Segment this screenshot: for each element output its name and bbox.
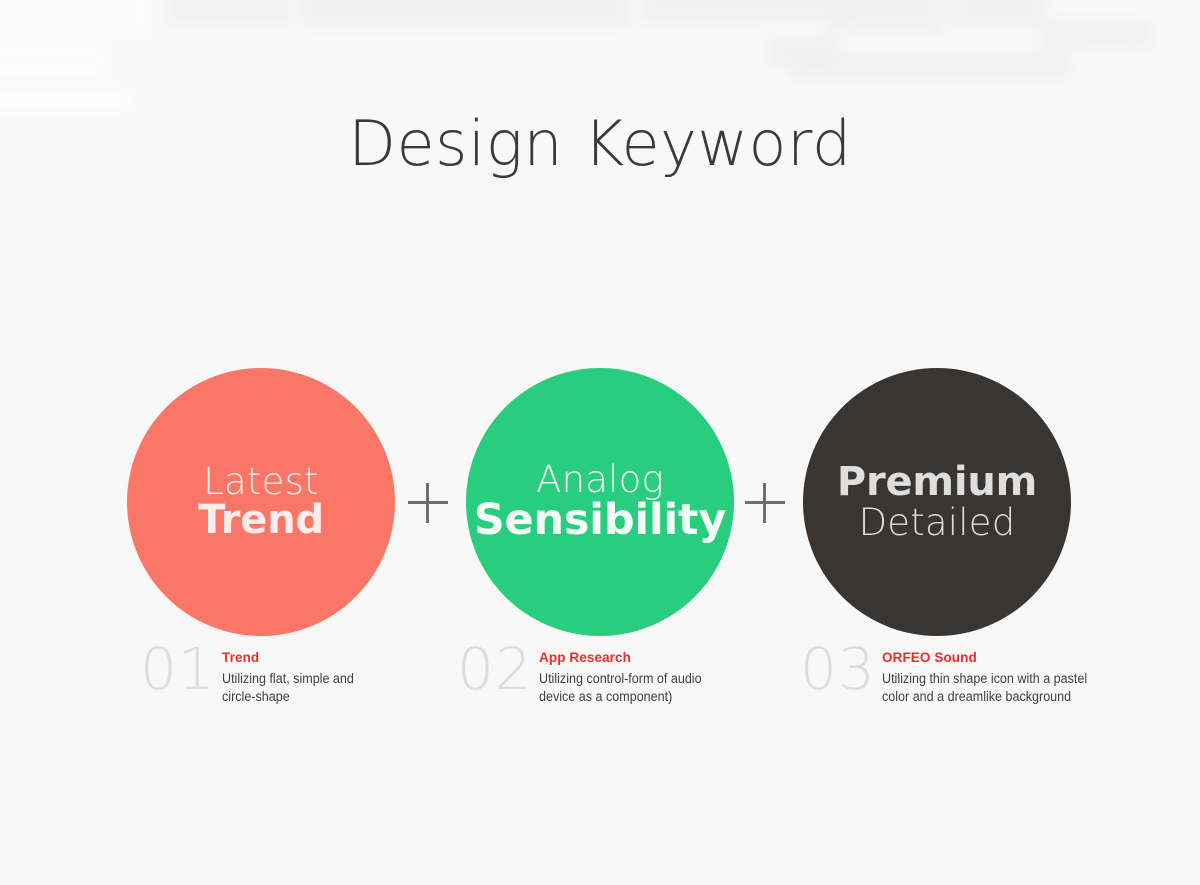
caption-number: 02 bbox=[457, 643, 539, 696]
caption-text-block: App Research Utilizing control-form of a… bbox=[539, 645, 754, 705]
plus-icon bbox=[745, 483, 785, 523]
keyword-line-top: Latest bbox=[203, 463, 319, 501]
keyword-line-bottom: Sensibility bbox=[474, 499, 726, 543]
caption-item-trend: 01 Trend Utilizing flat, simple and circ… bbox=[140, 645, 422, 705]
keyword-circle-sensibility[interactable]: Analog Sensibility bbox=[466, 368, 734, 636]
watermark-block bbox=[770, 36, 840, 68]
keyword-circle-trend[interactable]: Latest Trend bbox=[127, 368, 395, 636]
plus-icon bbox=[408, 483, 448, 523]
watermark-block bbox=[0, 0, 150, 36]
caption-title: App Research bbox=[539, 651, 754, 666]
keyword-line-top: Premium bbox=[837, 462, 1037, 503]
caption-item-orfeo-sound: 03 ORFEO Sound Utilizing thin shape icon… bbox=[800, 645, 1112, 705]
keyword-circle-row: Latest Trend Analog Sensibility Premium … bbox=[0, 368, 1200, 638]
keyword-circle-premium[interactable]: Premium Detailed bbox=[803, 368, 1071, 636]
caption-number: 03 bbox=[800, 643, 882, 696]
caption-number: 01 bbox=[140, 643, 222, 696]
watermark-block bbox=[0, 40, 110, 80]
caption-description: Utilizing thin shape icon with a pastel … bbox=[882, 670, 1096, 706]
watermark-block bbox=[830, 0, 945, 34]
caption-description: Utilizing control-form of audio device a… bbox=[539, 670, 739, 706]
keyword-line-top: Analog bbox=[536, 461, 664, 499]
watermark-block bbox=[170, 0, 290, 24]
watermark-block bbox=[950, 0, 1045, 28]
caption-description: Utilizing flat, simple and circle-shape bbox=[222, 670, 408, 706]
caption-item-app-research: 02 App Research Utilizing control-form o… bbox=[457, 645, 754, 705]
watermark-block bbox=[790, 52, 1070, 78]
caption-title: ORFEO Sound bbox=[882, 651, 1112, 666]
keyword-line-bottom: Trend bbox=[198, 500, 324, 541]
watermark-block bbox=[1040, 20, 1150, 50]
watermark-block bbox=[640, 0, 850, 22]
caption-title: Trend bbox=[222, 651, 422, 666]
slide-canvas: Design Keyword Latest Trend Analog Sensi… bbox=[0, 0, 1200, 885]
keyword-line-bottom: Detailed bbox=[859, 504, 1016, 542]
caption-text-block: Trend Utilizing flat, simple and circle-… bbox=[222, 645, 422, 705]
plus-icon-bar-vertical bbox=[763, 483, 766, 523]
watermark-block bbox=[0, 88, 130, 112]
caption-text-block: ORFEO Sound Utilizing thin shape icon wi… bbox=[882, 645, 1112, 705]
page-title: Design Keyword bbox=[0, 113, 1200, 175]
plus-icon-bar-vertical bbox=[426, 483, 429, 523]
watermark-block bbox=[300, 0, 630, 28]
